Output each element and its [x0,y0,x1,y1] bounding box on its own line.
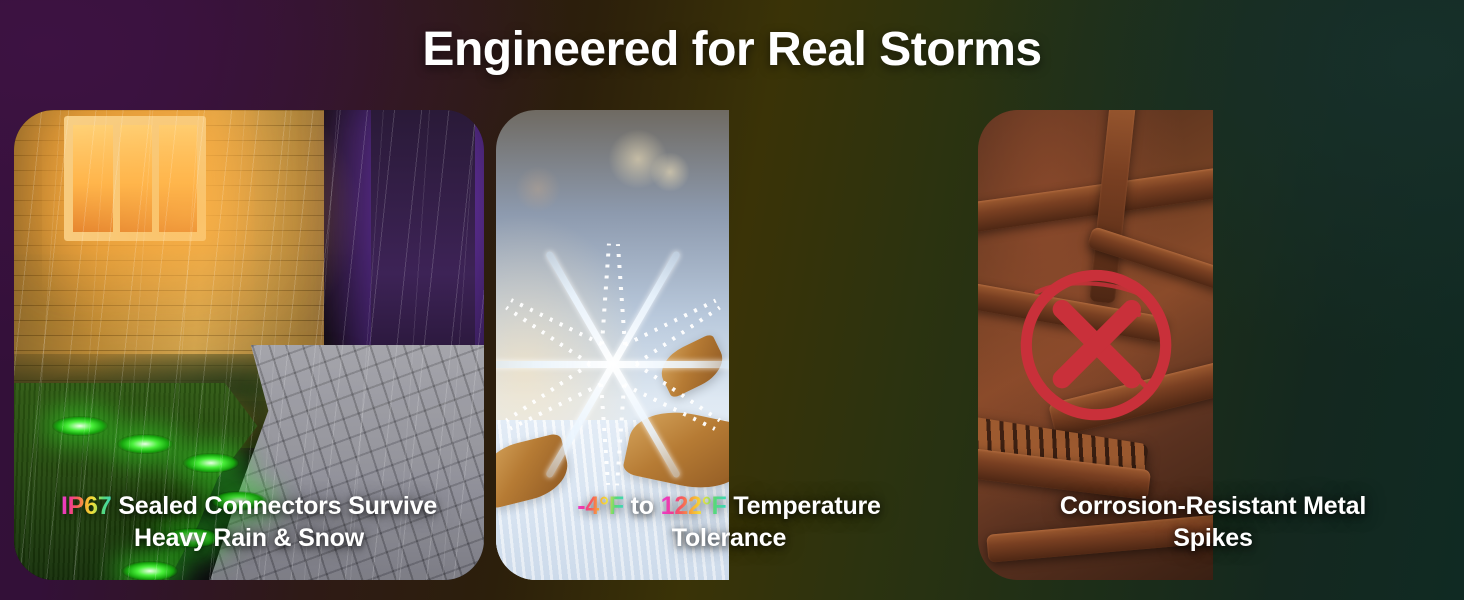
light-icon [183,453,239,473]
caption-highlight-ip67: IP67 [61,492,112,520]
panel-3-caption: Corrosion-Resistant Metal Spikes [978,490,1448,554]
snowflake-icon [496,229,729,499]
caption-line1: Corrosion-Resistant Metal [1060,492,1366,520]
red-x-badge [1011,260,1181,430]
caption-line2: Spikes [1173,524,1252,552]
caption-line1-rest: Sealed Connectors Survive [112,492,437,520]
caption-line1-rest: Temperature [727,492,881,520]
feature-panel-temperature: -4°F to 122°F Temperature Tolerance [496,110,962,580]
caption-highlight-low-temp: -4°F [577,492,624,520]
caption-highlight-high-temp: 122°F [661,492,727,520]
panel-2-caption: -4°F to 122°F Temperature Tolerance [496,490,962,554]
promo-banner: Engineered for Real Storms [0,0,1464,600]
feature-panel-ip67: IP67 Sealed Connectors Survive Heavy Rai… [14,110,484,580]
panel-1-caption: IP67 Sealed Connectors Survive Heavy Rai… [14,490,484,554]
bokeh-icon [650,152,690,192]
light-icon [117,434,173,454]
feature-panel-corrosion: Corrosion-Resistant Metal Spikes [978,110,1448,580]
page-title: Engineered for Real Storms [0,22,1464,77]
light-icon [52,416,108,436]
bokeh-icon [515,166,561,212]
light-icon [122,561,178,580]
caption-line2: Heavy Rain & Snow [134,524,364,552]
caption-mid: to [624,492,661,520]
rusty-nail [978,166,1213,235]
caption-line2: Tolerance [672,524,786,552]
